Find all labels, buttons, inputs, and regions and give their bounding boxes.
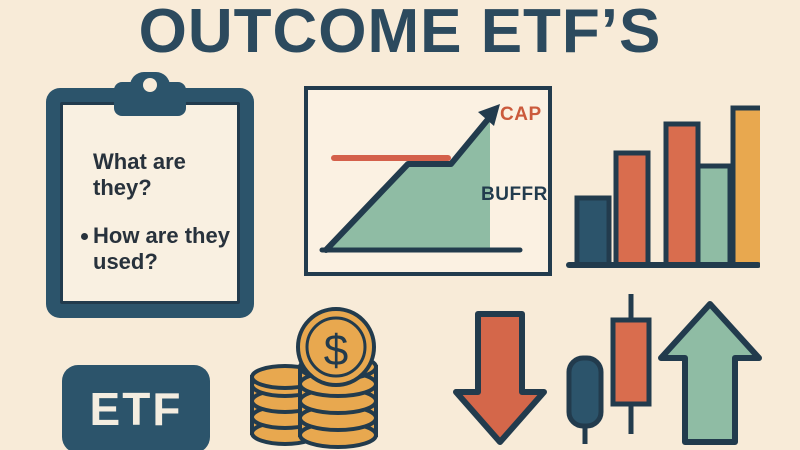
cap-label: CAP: [500, 104, 542, 126]
bar-5: [733, 108, 760, 265]
etf-badge-label: ETF: [90, 382, 183, 436]
candlestick-red: [613, 294, 649, 434]
candlestick-pair: [563, 290, 659, 450]
clipboard-paper: What are they? How are they used?: [60, 102, 240, 304]
bar-1: [577, 198, 609, 265]
up-arrow-icon: [655, 296, 765, 450]
clipboard-line-2: How are they used?: [93, 223, 239, 274]
chart-area-fill: [326, 115, 490, 250]
page-title: OUTCOME ETF’S: [0, 0, 800, 67]
infographic-canvas: OUTCOME ETF’S What are they? How are the…: [0, 0, 800, 450]
bar-chart: [565, 105, 760, 280]
candlestick-navy: [569, 358, 601, 444]
bar-2: [616, 153, 648, 265]
clipboard-line-1: What are they?: [93, 149, 233, 200]
dollar-symbol: $: [324, 326, 348, 375]
buffr-label: BUFFR: [481, 184, 548, 206]
down-arrow-icon: [448, 300, 552, 450]
coin-stack: $: [246, 305, 396, 450]
bar-4: [698, 166, 730, 265]
questions-clipboard: What are they? How are they used?: [46, 88, 254, 318]
etf-badge: ETF: [62, 365, 210, 450]
clipboard-bullet-icon: [81, 233, 88, 240]
bar-3: [666, 124, 698, 265]
clipboard-clip-hole-icon: [143, 78, 157, 92]
dollar-coin-icon: $: [298, 309, 374, 385]
